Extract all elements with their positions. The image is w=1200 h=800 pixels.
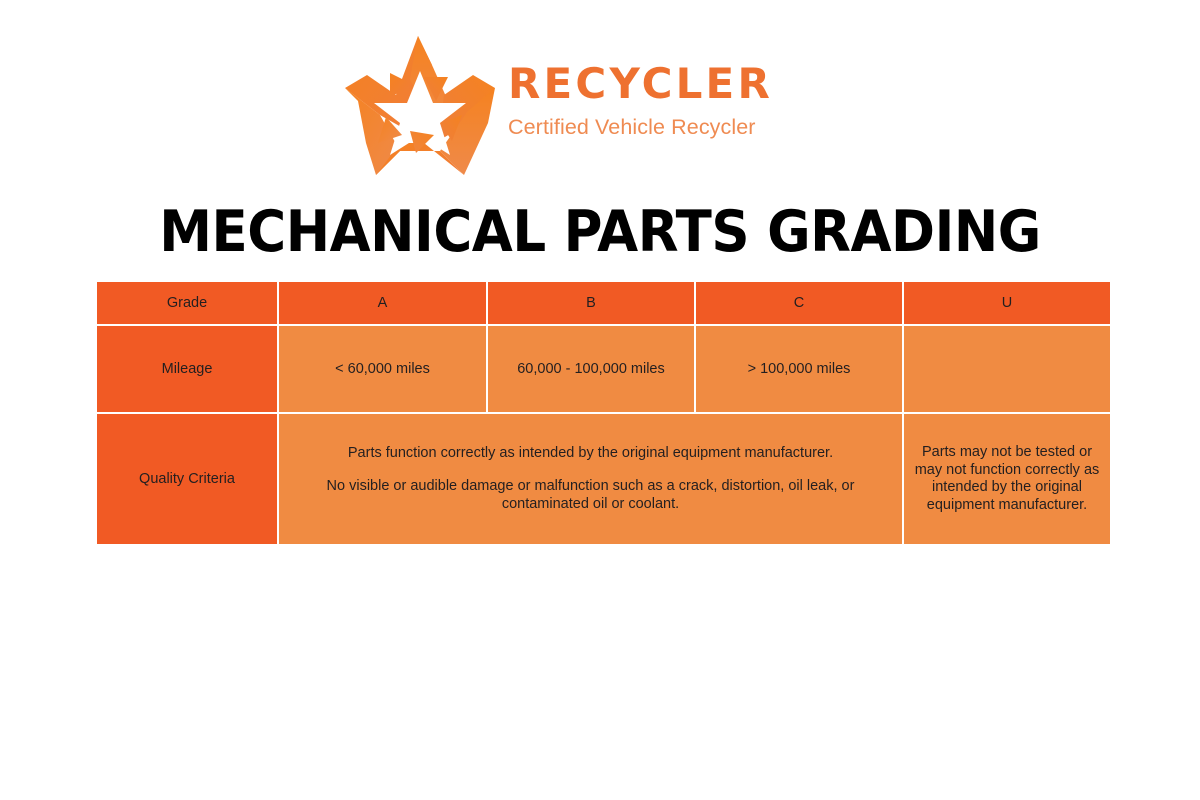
table-row-quality-criteria: Quality Criteria Parts function correctl… [97,414,1110,544]
quality-criteria-paragraph-1: Parts function correctly as intended by … [279,445,902,463]
mileage-grade-b: 60,000 - 100,000 miles [488,326,694,412]
logo-text-group: RECYCLER Certified Vehicle Recycler [508,63,773,149]
column-header-b: B [488,282,694,324]
quality-criteria-u: Parts may not be tested or may not funct… [904,414,1110,544]
row-label-quality-criteria: Quality Criteria [97,414,277,544]
column-header-a: A [279,282,486,324]
table-row-mileage: Mileage < 60,000 miles 60,000 - 100,000 … [97,326,1110,412]
mileage-grade-c: > 100,000 miles [696,326,902,412]
row-label-mileage: Mileage [97,326,277,412]
page-title: MECHANICAL PARTS GRADING [42,196,1158,268]
column-header-u: U [904,282,1110,324]
column-header-c: C [696,282,902,324]
brand-logo: RECYCLER Certified Vehicle Recycler [340,28,770,183]
mechanical-parts-grading-table: Grade A B C U Mileage < 60,000 miles 60,… [95,280,1112,546]
logo-tagline: Certified Vehicle Recycler [508,117,773,139]
table-header-row: Grade A B C U [97,282,1110,324]
column-header-grade: Grade [97,282,277,324]
quality-criteria-paragraph-2: No visible or audible damage or malfunct… [279,478,902,513]
mileage-grade-a: < 60,000 miles [279,326,486,412]
quality-criteria-u-text: Parts may not be tested or may not funct… [904,444,1110,514]
quality-criteria-abc: Parts function correctly as intended by … [279,414,902,544]
mileage-grade-u [904,326,1110,412]
recycling-star-icon [340,31,500,181]
logo-wordmark: RECYCLER [508,63,773,105]
